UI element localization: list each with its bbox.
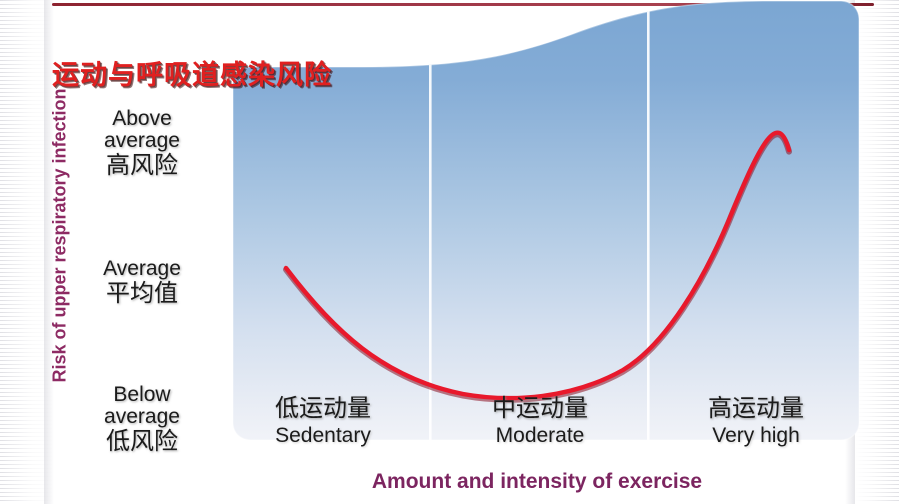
x-tick-sedentary-cn: 低运动量 xyxy=(233,396,413,422)
x-tick-very-high: 高运动量 Very high xyxy=(666,396,846,447)
y-tick-below-average-cn: 低风险 xyxy=(74,429,210,456)
x-tick-moderate: 中运动量 Moderate xyxy=(452,396,628,447)
right-stripe-decoration xyxy=(855,0,899,504)
x-tick-moderate-en: Moderate xyxy=(452,424,628,447)
slide-canvas: 运动与呼吸道感染风险 Risk of upper respiratory inf… xyxy=(0,0,899,504)
x-tick-very-high-en: Very high xyxy=(666,424,846,447)
y-tick-average-en-line1: Average xyxy=(74,258,210,280)
x-tick-moderate-cn: 中运动量 xyxy=(452,396,628,422)
y-tick-above-average-en-line2: average xyxy=(74,130,210,152)
x-tick-sedentary-en: Sedentary xyxy=(233,424,413,447)
x-tick-sedentary: 低运动量 Sedentary xyxy=(233,396,413,447)
y-tick-above-average-en-line1: Above xyxy=(74,108,210,130)
y-tick-average-cn: 平均值 xyxy=(74,281,210,308)
chart-title: 运动与呼吸道感染风险 xyxy=(52,53,332,92)
y-tick-below-average: Below average 低风险 xyxy=(74,384,210,456)
y-tick-below-average-en-line2: average xyxy=(74,406,210,428)
x-tick-very-high-cn: 高运动量 xyxy=(666,396,846,422)
x-axis-label: Amount and intensity of exercise xyxy=(213,470,861,494)
y-tick-average: Average 平均值 xyxy=(74,258,210,308)
category-divider-2 xyxy=(647,0,650,441)
y-tick-above-average: Above average 高风险 xyxy=(74,108,210,180)
y-tick-below-average-en-line1: Below xyxy=(74,384,210,406)
category-divider-1 xyxy=(429,0,432,441)
y-axis-label: Risk of upper respiratory infection xyxy=(50,86,71,386)
y-tick-above-average-cn: 高风险 xyxy=(74,153,210,180)
